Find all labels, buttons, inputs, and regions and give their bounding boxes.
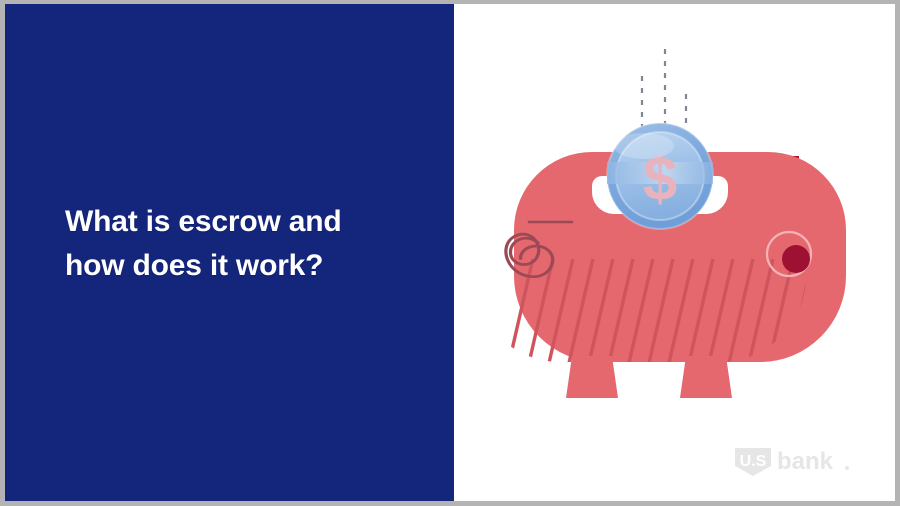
piggy-bank-illustration: $ [454,4,895,501]
logo-registered-dot [845,466,849,470]
slide-frame: What is escrow and how does it work? [0,0,900,506]
us-bank-logo: U.S bank [733,445,853,479]
piggy-leg-front [566,356,618,398]
piggy-eye-pupil [782,245,810,273]
page-title: What is escrow and how does it work? [65,200,435,288]
slide-canvas: What is escrow and how does it work? [5,4,895,501]
logo-shield-text: U.S [740,453,767,470]
piggy-leg-back [680,356,732,398]
right-white-panel: $ U.S bank [454,4,895,501]
left-navy-panel: What is escrow and how does it work? [5,4,454,501]
logo-wordmark: bank [777,448,834,475]
coin-icon: $ [607,123,713,229]
